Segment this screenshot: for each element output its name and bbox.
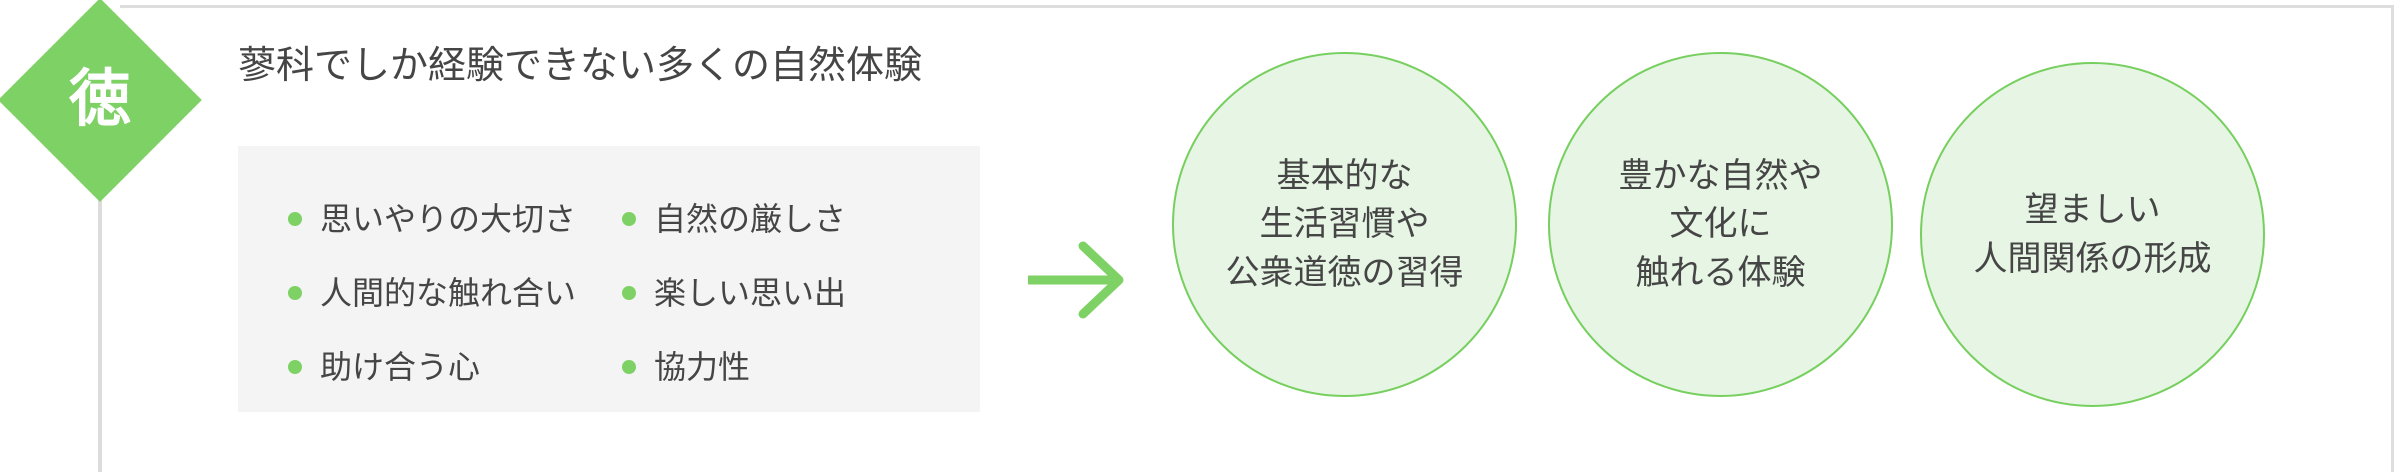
outcome-circle-label: 望ましい 人間関係の形成 [1974, 186, 2212, 283]
list-item: 人間的な触れ合い [288, 256, 608, 330]
outcome-circle-label: 基本的な 生活習慣や 公衆道徳の習得 [1226, 152, 1464, 297]
keyword-panel: 思いやりの大切さ 人間的な触れ合い 助け合う心 自然の厳しさ 楽しい思い出 [238, 146, 980, 412]
right-divider [2391, 5, 2394, 472]
list-item-label: 協力性 [654, 351, 750, 383]
category-badge: 徳 [2, 2, 198, 198]
list-item: 楽しい思い出 [622, 256, 980, 330]
bullet-dot-icon [622, 286, 636, 300]
section-heading: 蓼科でしか経験できない多くの自然体験 [238, 44, 922, 90]
list-item-label: 楽しい思い出 [654, 277, 846, 309]
bullet-dot-icon [288, 212, 302, 226]
list-item: 協力性 [622, 330, 980, 404]
category-badge-label: 徳 [69, 69, 131, 131]
bullet-dot-icon [288, 286, 302, 300]
outcome-circle: 豊かな自然や 文化に 触れる体験 [1548, 52, 1893, 397]
list-item-label: 助け合う心 [320, 351, 480, 383]
infographic-root: 徳 蓼科でしか経験できない多くの自然体験 思いやりの大切さ 人間的な触れ合い 助… [0, 0, 2400, 472]
list-item-label: 自然の厳しさ [654, 203, 846, 235]
list-item: 自然の厳しさ [622, 182, 980, 256]
keyword-column-right: 自然の厳しさ 楽しい思い出 協力性 [608, 182, 980, 412]
list-item-label: 人間的な触れ合い [320, 277, 576, 309]
bullet-dot-icon [622, 212, 636, 226]
outcome-circle: 望ましい 人間関係の形成 [1920, 62, 2265, 407]
list-item-label: 思いやりの大切さ [320, 203, 576, 235]
outcome-circle-label: 豊かな自然や 文化に 触れる体験 [1619, 152, 1823, 297]
bullet-dot-icon [622, 360, 636, 374]
timeline-stem [98, 196, 102, 472]
list-item: 助け合う心 [288, 330, 608, 404]
list-item: 思いやりの大切さ [288, 182, 608, 256]
outcome-circle: 基本的な 生活習慣や 公衆道徳の習得 [1172, 52, 1517, 397]
keyword-column-left: 思いやりの大切さ 人間的な触れ合い 助け合う心 [238, 182, 608, 412]
bullet-dot-icon [288, 360, 302, 374]
arrow-right-icon [1022, 235, 1132, 325]
top-divider [120, 5, 2393, 8]
